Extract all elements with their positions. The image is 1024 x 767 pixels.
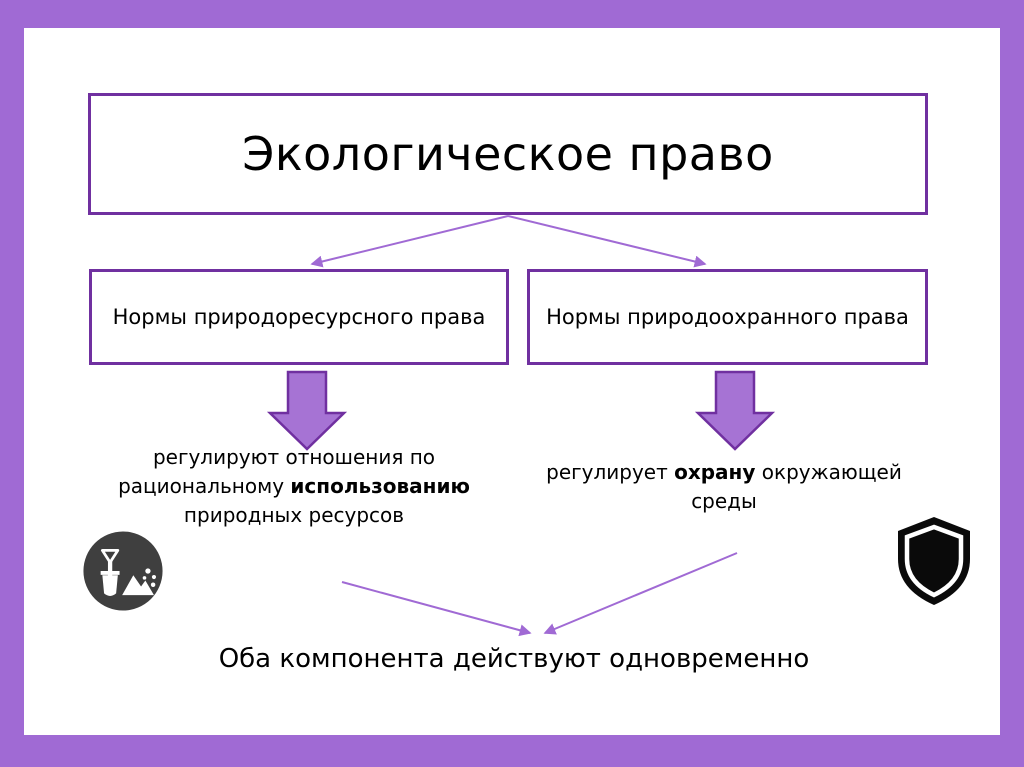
branch-description-left: регулируют отношения по рациональному ис… — [84, 443, 504, 530]
shovel-gravel-icon — [80, 528, 166, 614]
shield-icon — [894, 515, 974, 607]
branch-box-right-label: Нормы природоохранного права — [536, 303, 919, 331]
branch-description-right: регулирует охрану окружающей среды — [544, 458, 904, 516]
branch-description-left-emphasis: использованию — [290, 474, 470, 498]
branch-description-right-emphasis: охрану — [674, 460, 755, 484]
block-arrow-left — [270, 372, 344, 449]
connector-title-to-left-box — [312, 216, 508, 264]
connector-right-desc-to-conclusion — [545, 553, 737, 633]
branch-box-right: Нормы природоохранного права — [527, 269, 928, 365]
slide-frame: Экологическое право Нормы природоресурсн… — [0, 0, 1024, 767]
slide-canvas: Экологическое право Нормы природоресурсн… — [24, 28, 1000, 735]
branch-box-left: Нормы природоресурсного права — [89, 269, 509, 365]
block-arrow-right — [698, 372, 772, 449]
connector-title-to-right-box — [508, 216, 705, 264]
branch-description-right-prefix: регулирует — [546, 460, 674, 484]
conclusion-text: Оба компонента действуют одновременно — [134, 643, 894, 677]
connector-left-desc-to-conclusion — [342, 582, 530, 633]
branch-description-left-suffix: природных ресурсов — [184, 503, 404, 527]
title-box: Экологическое право — [88, 93, 928, 215]
page-title: Экологическое право — [242, 129, 774, 180]
branch-box-left-label: Нормы природоресурсного права — [103, 303, 496, 331]
